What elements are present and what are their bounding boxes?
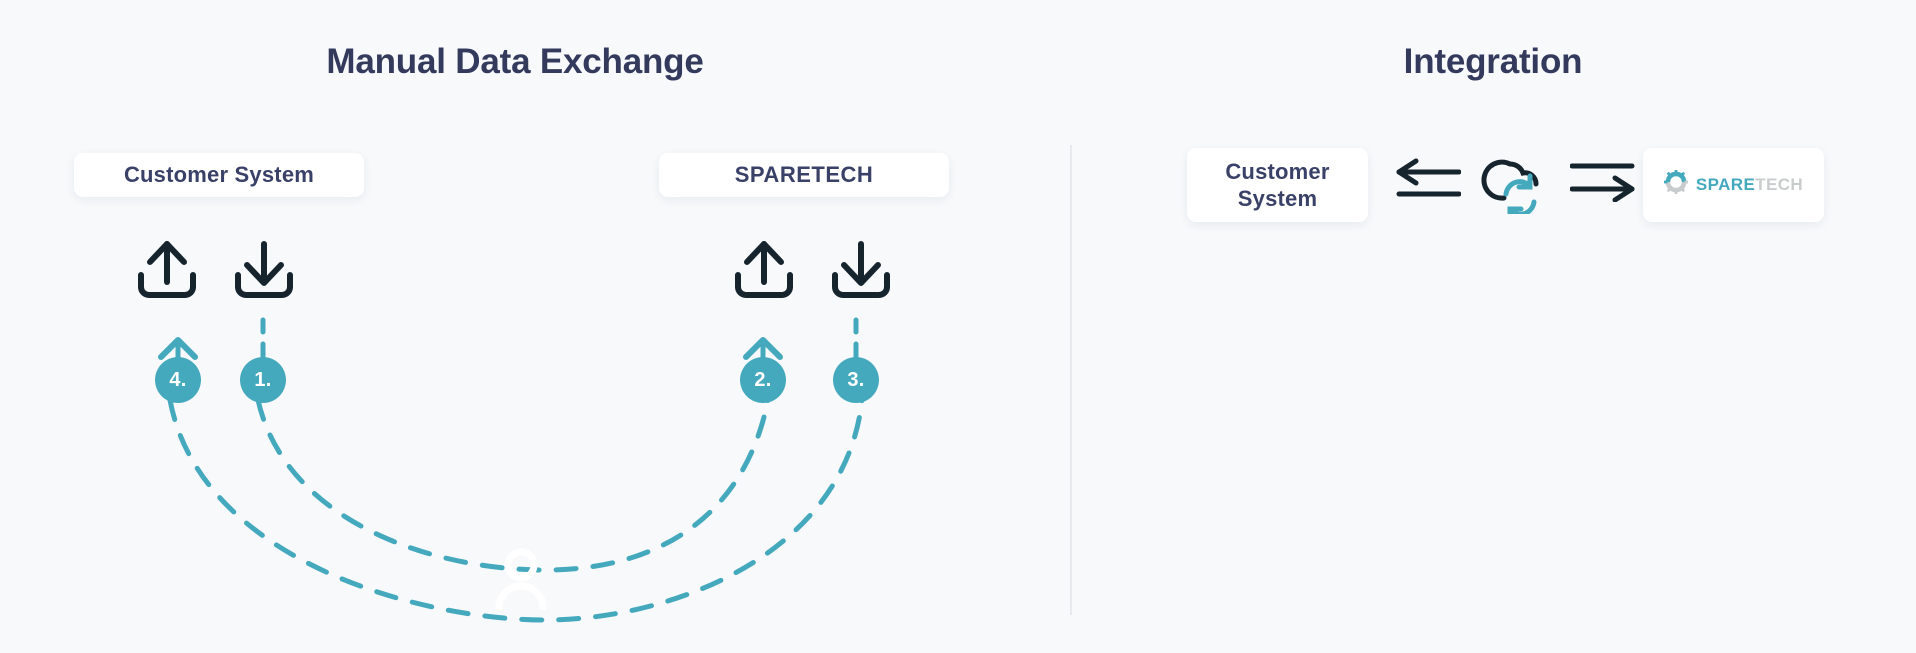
node-card-label: SPARETECH <box>735 161 874 189</box>
sparetech-logo: SPARETECH <box>1664 170 1803 200</box>
node-card-sparetech[interactable]: SPARETECH <box>1643 148 1824 222</box>
arrow-left-icon <box>1395 158 1461 207</box>
logo-text-spare: SPARE <box>1696 175 1755 194</box>
node-card-customer-system[interactable]: Customer System <box>1187 148 1368 222</box>
panel-manual-data-exchange: Manual Data Exchange Customer System SPA… <box>0 0 1070 653</box>
step-badge-label: 4. <box>169 369 186 392</box>
diagram-canvas: Manual Data Exchange Customer System SPA… <box>0 0 1916 653</box>
node-card-customer-system[interactable]: Customer System <box>74 153 364 197</box>
upload-icon <box>730 238 798 305</box>
arrow-right-icon <box>1570 158 1636 207</box>
upload-icon <box>133 238 201 305</box>
node-card-sparetech[interactable]: SPARETECH <box>659 153 949 197</box>
person-icon <box>493 548 549 615</box>
step-badge-label: 1. <box>254 369 271 392</box>
step-badge[interactable]: 2. <box>740 357 786 403</box>
download-icon <box>230 238 298 305</box>
gear-icon <box>1664 170 1688 200</box>
step-badge[interactable]: 4. <box>155 357 201 403</box>
node-card-label: Customer System <box>1187 158 1368 213</box>
step-badge[interactable]: 1. <box>240 357 286 403</box>
step-badge-label: 3. <box>847 369 864 392</box>
step-badge-label: 2. <box>754 369 771 392</box>
logo-text-tech: TECH <box>1755 175 1803 194</box>
panel-title-integration: Integration <box>1070 42 1916 82</box>
download-icon <box>827 238 895 305</box>
panel-integration <box>1070 0 1916 653</box>
cloud-sync-icon <box>1478 148 1552 219</box>
step-badge[interactable]: 3. <box>833 357 879 403</box>
node-card-label: Customer System <box>124 161 314 189</box>
